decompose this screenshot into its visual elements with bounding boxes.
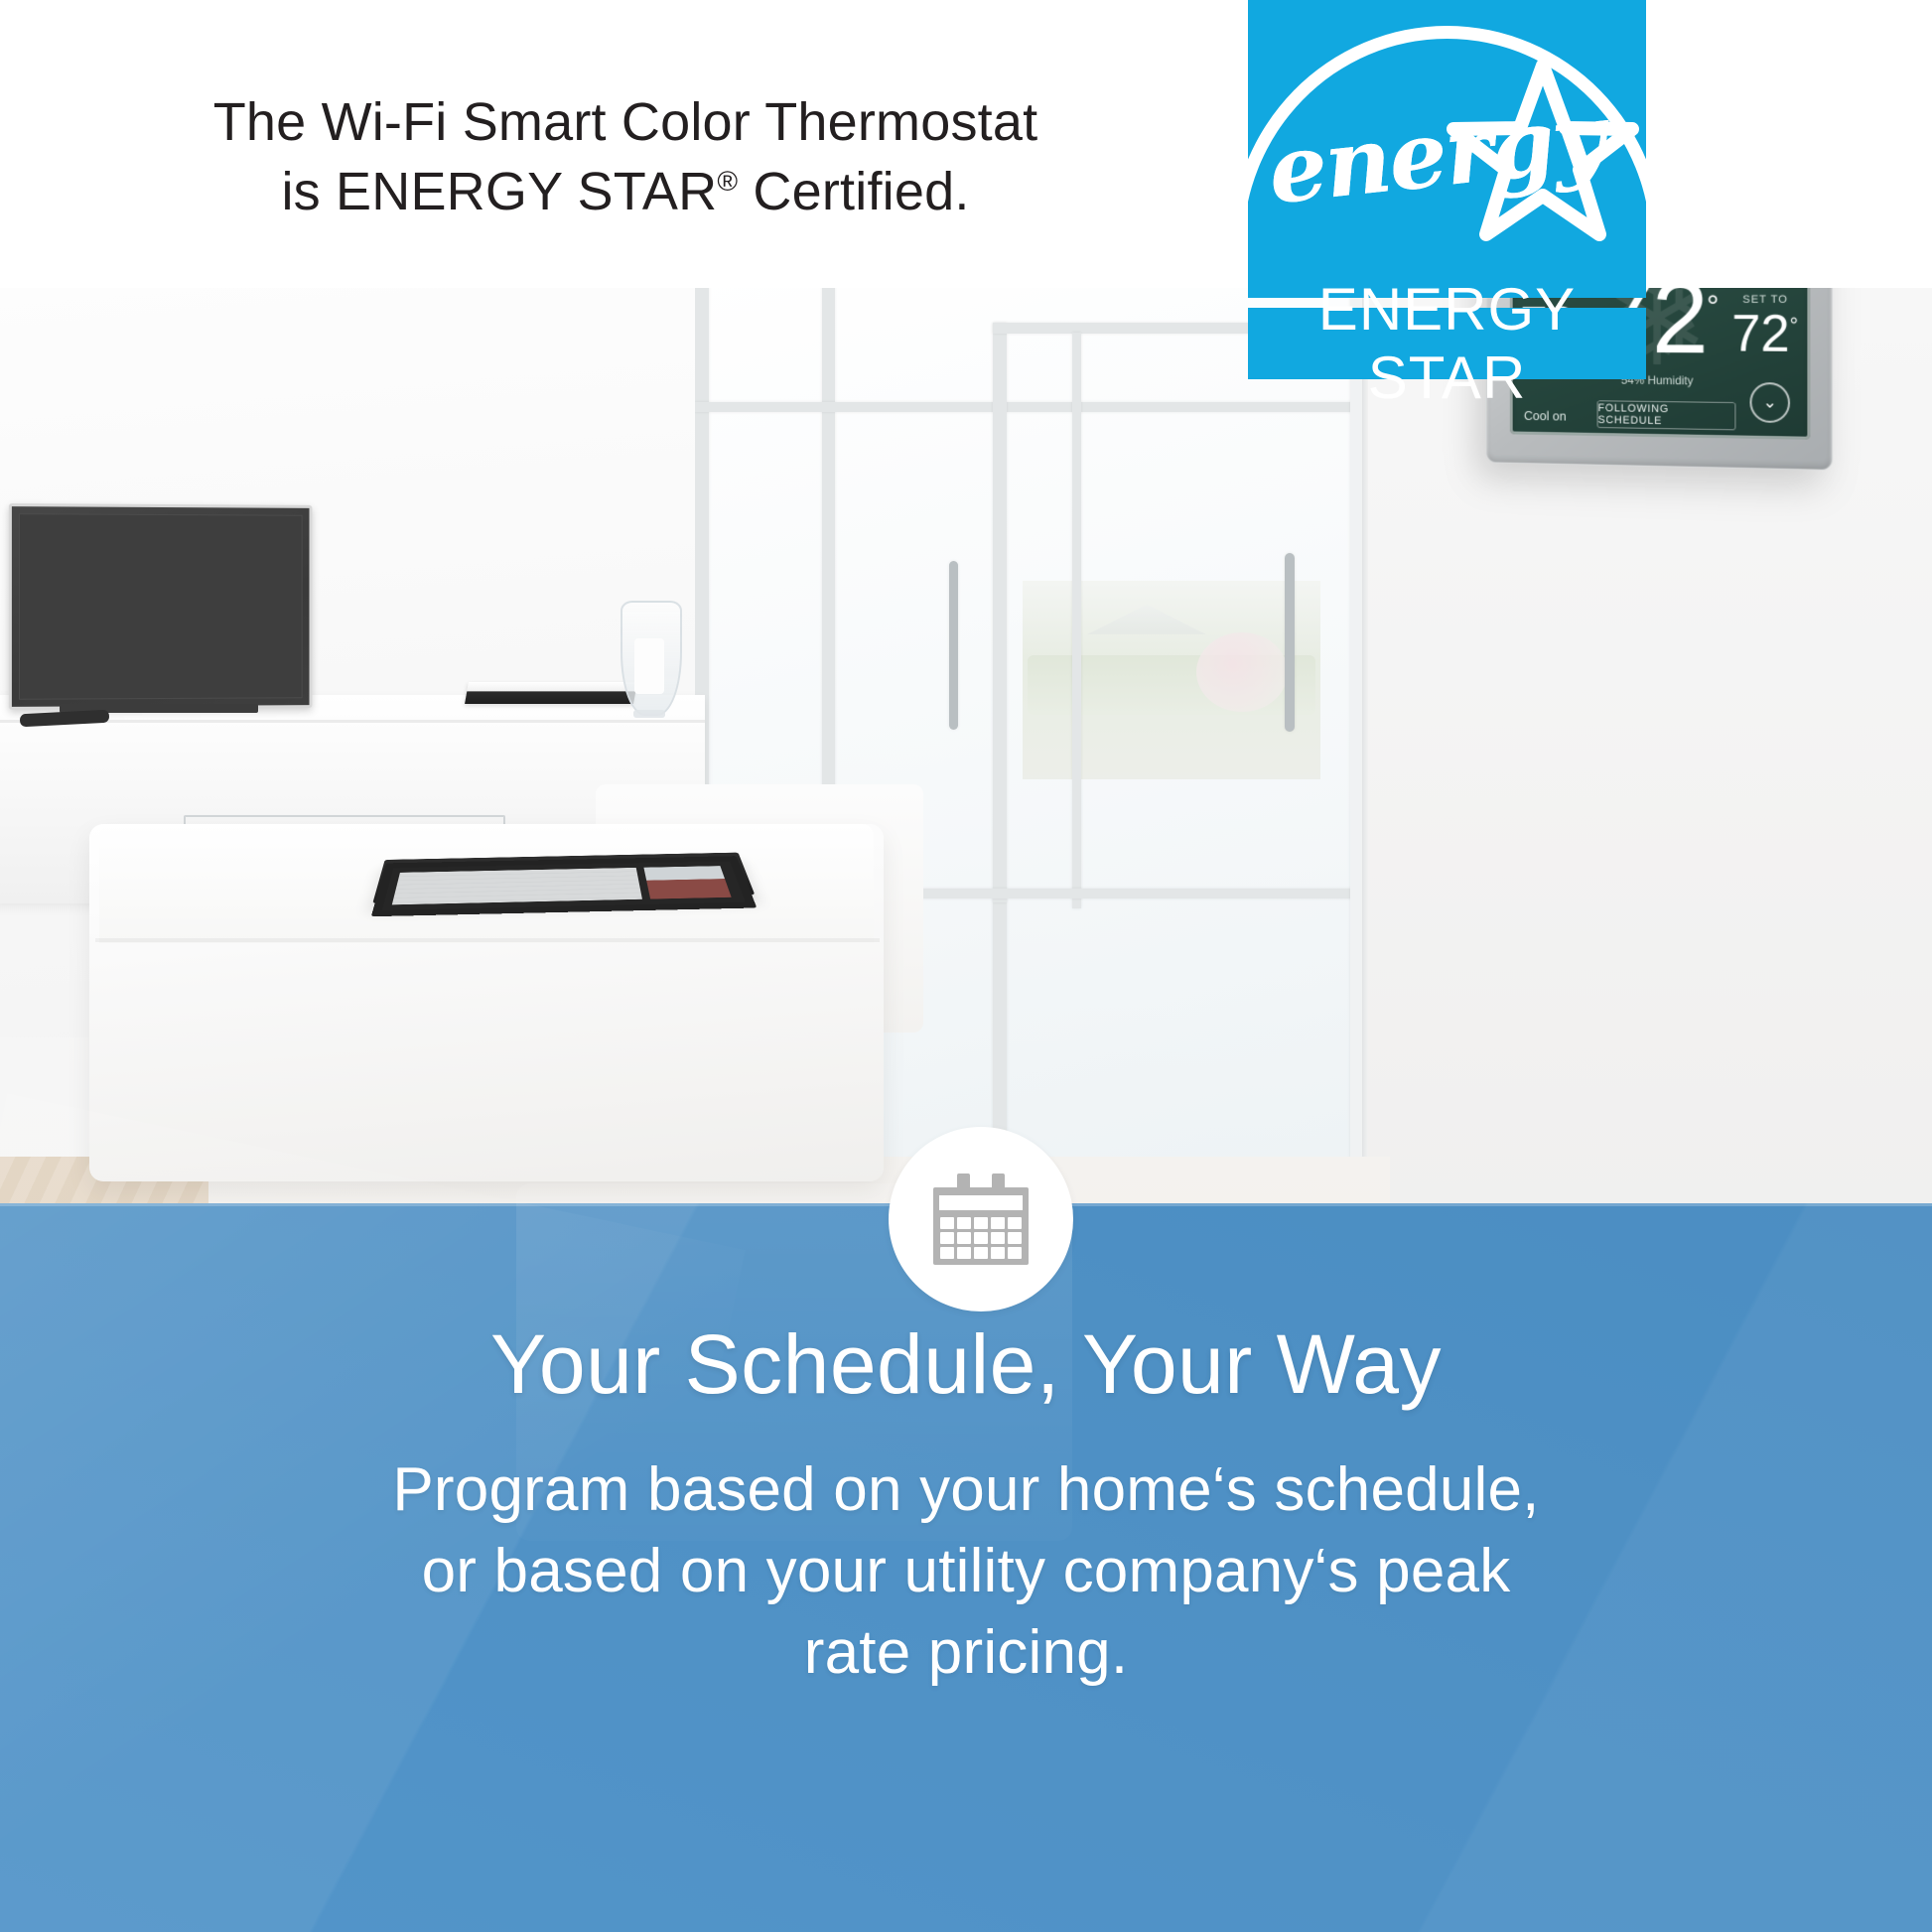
set-to-value: 72 — [1731, 305, 1789, 363]
vase-base — [633, 710, 665, 718]
promo-tagline: Your Schedule, Your Way — [0, 1322, 1932, 1406]
blossom-tree — [1196, 632, 1288, 712]
promo-body-line-1: Program based on your home‘s schedule, — [129, 1449, 1803, 1531]
marketing-card: Honeywell ❄ HOME FAN MODE SETTINGS 6:30p… — [0, 0, 1932, 1932]
book-stack — [465, 682, 637, 704]
energy-star-wordmark-bar: ENERGY STAR — [1248, 308, 1646, 379]
glass-vase — [621, 601, 682, 716]
energy-star-wordmark: ENERGY STAR — [1248, 275, 1646, 412]
television — [9, 503, 313, 710]
star-icon — [1444, 54, 1642, 252]
promo-panel: Your Schedule, Your Way Program based on… — [0, 1203, 1932, 1932]
set-to-degree-symbol: ° — [1790, 315, 1798, 338]
headline-line-1: The Wi-Fi Smart Color Thermostat — [213, 92, 1038, 152]
set-to-temperature: 72° — [1731, 308, 1798, 360]
page-title: The Wi-Fi Smart Color Thermostat is ENER… — [40, 87, 1211, 226]
promo-body: Program based on your home‘s schedule, o… — [129, 1449, 1803, 1693]
decorative-tray — [371, 856, 758, 916]
headline-line-2-pre: is ENERGY STAR — [281, 162, 717, 221]
inside-degree-symbol: ° — [1707, 289, 1717, 324]
energy-star-logo: energy ENERGY STAR — [1248, 0, 1646, 379]
headline-line-2: is ENERGY STAR® Certified. — [40, 157, 1211, 226]
promo-body-line-2: or based on your utility company‘s peak — [129, 1531, 1803, 1612]
ottoman-edge — [95, 938, 880, 942]
chevron-down-icon[interactable]: ⌄ — [1749, 382, 1790, 423]
energy-star-badge: energy — [1248, 0, 1646, 298]
promo-body-line-3: rate pricing. — [129, 1612, 1803, 1694]
registered-trademark-icon: ® — [717, 166, 738, 197]
feature-badge — [889, 1127, 1073, 1311]
headline-line-2-post: Certified. — [738, 162, 969, 221]
calendar-icon — [933, 1173, 1029, 1265]
